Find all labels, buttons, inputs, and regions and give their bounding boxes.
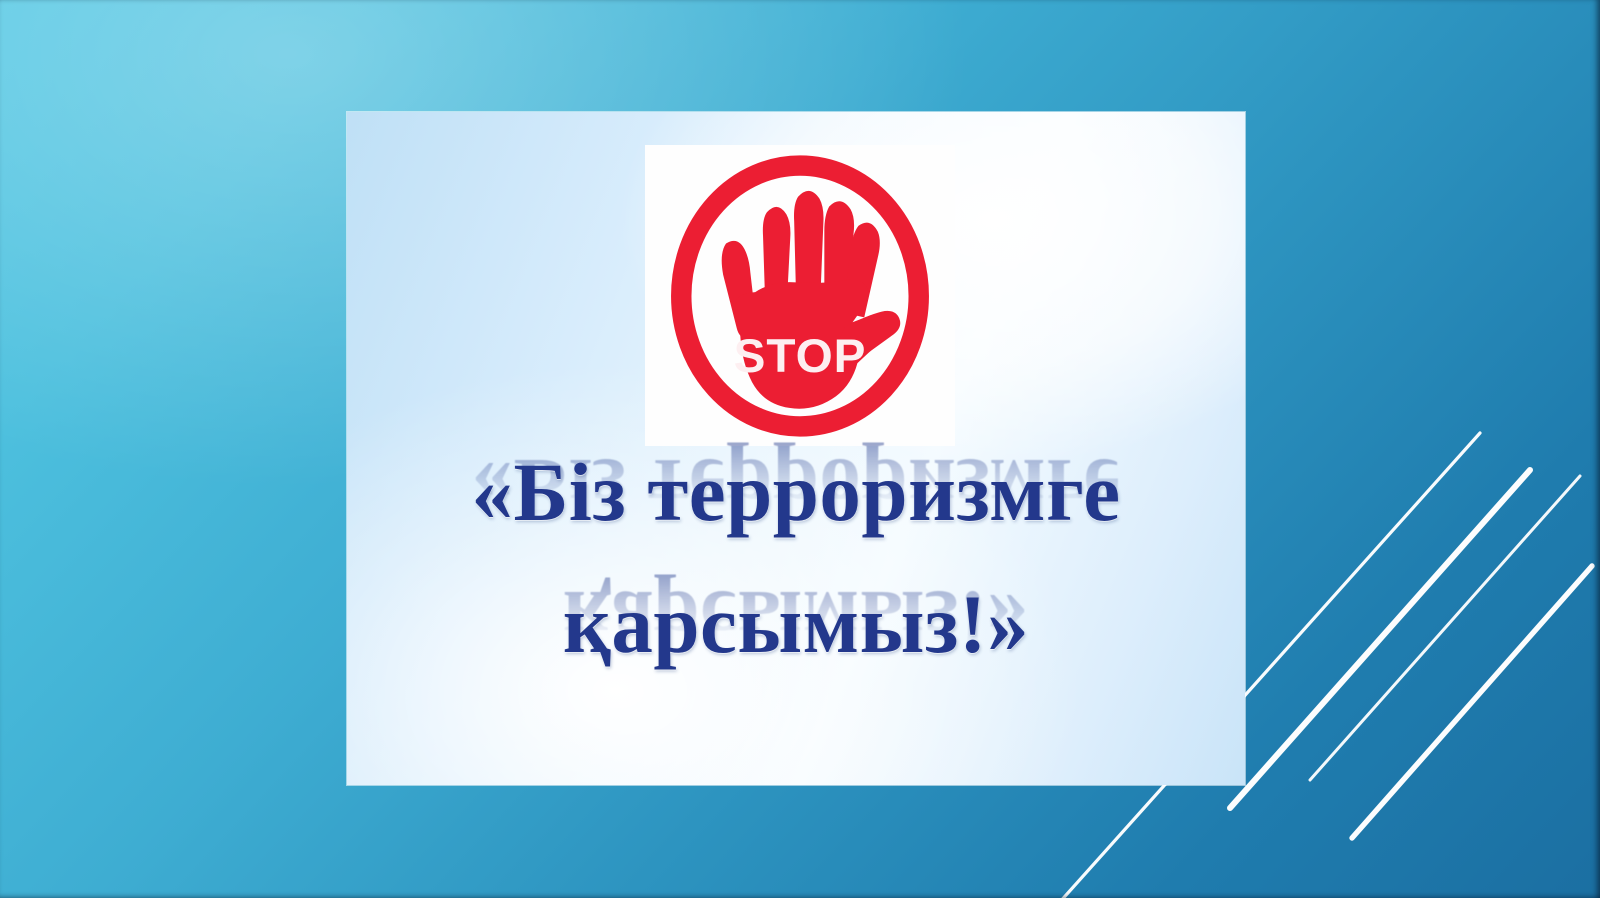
logo-image-box: STOP xyxy=(645,145,955,446)
content-card: STOP «Біз терроризмге «Біз терроризмге қ… xyxy=(347,112,1245,785)
streak-line-3 xyxy=(1310,476,1580,780)
slide-canvas: STOP «Біз терроризмге «Біз терроризмге қ… xyxy=(0,0,1600,898)
headline-line-1: «Біз терроризмге xyxy=(347,444,1245,540)
streak-line-2 xyxy=(1230,470,1530,808)
headline-block: «Біз терроризмге «Біз терроризмге қарсым… xyxy=(347,444,1245,694)
logo-stop-text: STOP xyxy=(734,329,867,382)
headline-line-2-wrap: қарсымыз!» қарсымыз!» xyxy=(347,576,1245,694)
headline-line-2: қарсымыз!» xyxy=(347,576,1245,672)
stop-hand-sign-icon: STOP xyxy=(654,150,946,442)
headline-line-1-wrap: «Біз терроризмге «Біз терроризмге xyxy=(347,444,1245,562)
streak-line-4 xyxy=(1352,566,1592,838)
